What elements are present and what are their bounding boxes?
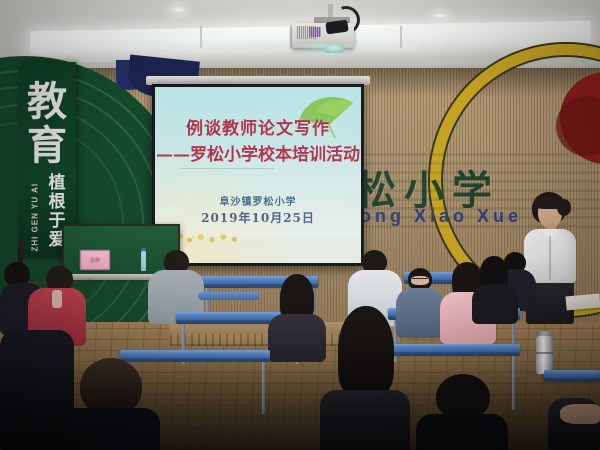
thermos-band [536, 352, 553, 354]
classroom-photo: 松小学 ong Xiao Xue 教育 植根于爱 ZHI GEN YU AI 例… [0, 0, 600, 450]
slide-title-line1: 例谈教师论文写作 [155, 117, 361, 141]
torso [320, 390, 410, 450]
banner-pinyin: ZHI GEN YU AI [31, 182, 40, 252]
chair-back [198, 292, 260, 300]
ceiling-downlight-icon [432, 12, 448, 19]
slide-title-line2: ——罗松小学校本培训活动 [155, 143, 361, 167]
ceiling-downlight-icon [170, 6, 186, 13]
torso [268, 314, 326, 362]
banner-headline: 教育 [18, 80, 76, 168]
projector [288, 4, 362, 56]
glasses-icon [412, 278, 428, 282]
attendee-dark-left [0, 330, 74, 450]
torso [416, 414, 508, 450]
slide-divider [180, 168, 275, 169]
desk-leg [262, 362, 265, 414]
torso [472, 284, 518, 324]
desk-edge [544, 378, 600, 382]
attendee-dark-right [470, 256, 518, 316]
attendee-long-hair-center [268, 274, 326, 358]
open-book-icon [565, 294, 600, 311]
lanyard [52, 290, 62, 308]
light-strip-seam [200, 26, 202, 48]
projection-screen: 例谈教师论文写作 ——罗松小学校本培训活动 阜沙镇罗松小学 2019年10月25… [152, 84, 364, 266]
thermos-icon [536, 336, 553, 374]
desk-leg [512, 356, 515, 410]
light-strip-seam [400, 26, 402, 48]
presenter-placket [549, 236, 551, 280]
presentation-slide: 例谈教师论文写作 ——罗松小学校本培训活动 阜沙镇罗松小学 2019年10月25… [155, 87, 361, 263]
hair [338, 306, 394, 398]
projector-light-glow [288, 44, 362, 62]
attendee-long-hair-front [320, 306, 410, 450]
presenter-hair-bun [557, 199, 571, 216]
projector-vent [309, 27, 321, 37]
attendee-dark-right [416, 374, 508, 450]
hand [560, 404, 600, 424]
water-bottle-icon [141, 251, 146, 271]
torso [0, 330, 74, 450]
